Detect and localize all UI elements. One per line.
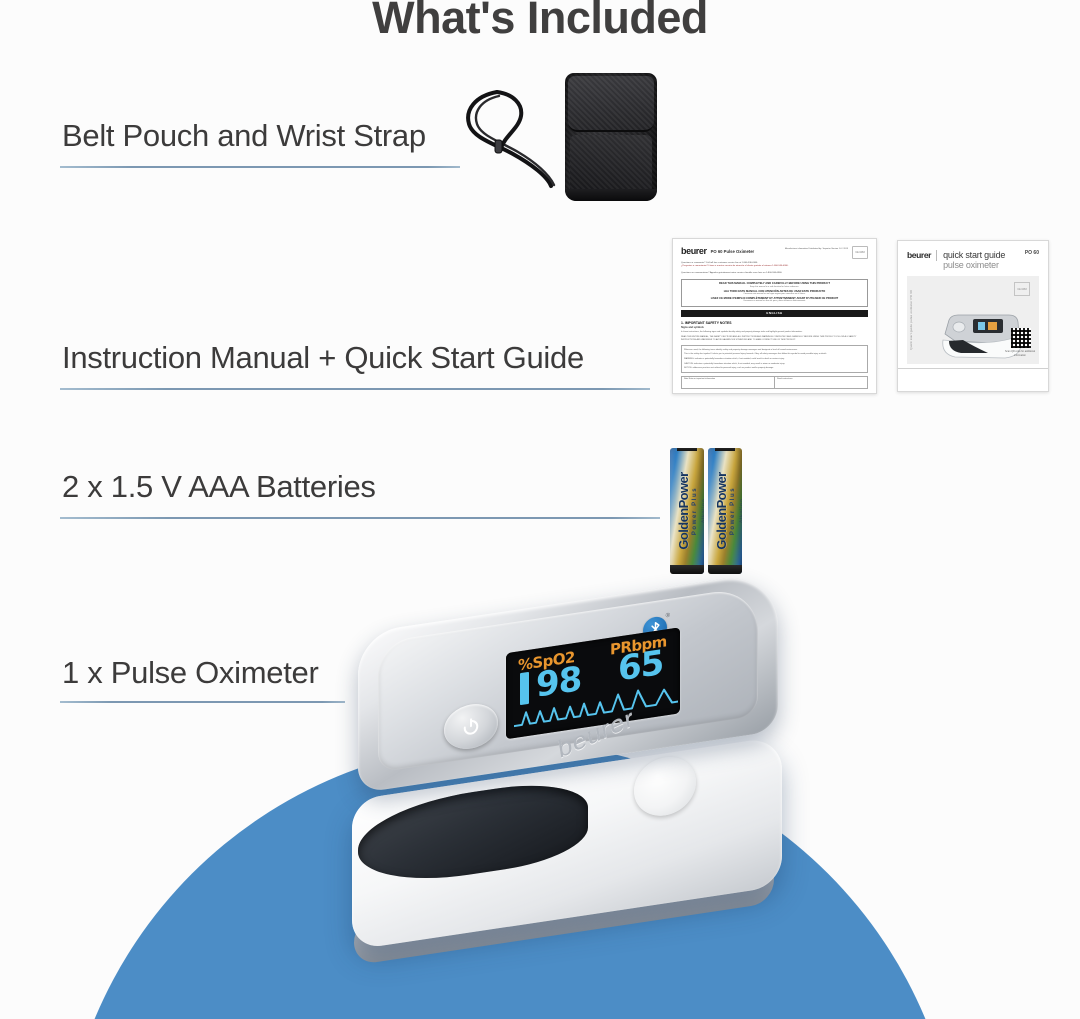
wrist-strap-icon (455, 86, 567, 194)
qsg-title-line1: quick start guide (943, 250, 1005, 260)
manual-header: beurer PO 60 Pulse Oximeter Manufacturer… (681, 246, 868, 259)
manual-model: PO 60 Pulse Oximeter (711, 249, 755, 254)
oximeter-finger-cavity (358, 775, 588, 891)
manual-warn-head: Wherever used, the following terms ident… (684, 349, 865, 352)
manual-section-sub: Signs and symbols (681, 326, 868, 329)
manual-warn-2: WARNING: indicates a potentially hazardo… (684, 358, 865, 361)
qsg-title-block: quick start guide pulse oximeter (943, 250, 1005, 270)
oximeter-hinge-button[interactable] (634, 753, 696, 820)
battery-sub-2: Power Plus (730, 451, 736, 571)
manual-body-1: In these instructions, the following sig… (681, 331, 868, 334)
qsg-brand: beurer (907, 250, 937, 261)
qsg-qr-caption: Scan QR code for additional information (1003, 350, 1037, 357)
power-button[interactable] (444, 700, 498, 752)
divider-rule-3 (60, 517, 660, 519)
item-label-batteries: 2 x 1.5 V AAA Batteries (62, 469, 376, 505)
item-label-pulse-oximeter: 1 x Pulse Oximeter (62, 655, 318, 691)
pr-value: 65 (618, 646, 663, 687)
battery-chemistry-2: Alkaline (740, 498, 742, 523)
qr-code-icon (1011, 328, 1031, 348)
battery-icon-1: GoldenPower Power Plus AAA Alkaline (670, 448, 704, 574)
manual-footer-table: Note Note on important information Read … (681, 376, 868, 389)
qsg-product-photo: Quick start guide pulse oximeter PO 60 C… (907, 276, 1039, 364)
battery-label-1: GoldenPower Power Plus (676, 451, 698, 571)
battery-icon-2: GoldenPower Power Plus AAA Alkaline (708, 448, 742, 574)
pouch-body (570, 135, 652, 193)
manual-brand: beurer (681, 246, 707, 256)
aaa-batteries-image: GoldenPower Power Plus AAA Alkaline Gold… (670, 448, 748, 574)
qsg-model: PO 60 (1025, 250, 1039, 256)
bluetooth-trademark: ® (666, 613, 670, 620)
manual-footer-right: Read instructions (775, 377, 867, 388)
divider-rule-4 (60, 701, 345, 703)
manual-body-2: READ THIS ENTIRE MANUAL, THE SAFETY SECT… (681, 336, 868, 342)
pulse-oximeter-image: ® %SpO2 PRbpm 98 65 beurer (330, 596, 800, 996)
power-icon (461, 715, 481, 738)
qsg-footer-band (898, 368, 1048, 402)
divider-rule-1 (60, 166, 460, 168)
manual-section-title: 1. IMPORTANT SAFETY NOTES (681, 321, 868, 325)
manual-callout-box: READ THIS MANUAL COMPLETELY AND CAREFULL… (681, 279, 868, 307)
callout-es-sub: Conserve este manual en un lugar seguro … (685, 293, 864, 295)
callout-en-sub: Keep this manual in a safe location for … (685, 286, 864, 288)
quick-start-guide-image: beurer quick start guide pulse oximeter … (897, 240, 1049, 392)
qsg-title-line2: pulse oximeter (943, 260, 1005, 270)
battery-sub: Power Plus (692, 451, 698, 571)
manual-meta: Manufacturer information Distributed by … (754, 248, 848, 251)
pouch-bottom-edge (565, 189, 657, 201)
manual-contact-fr: Questions ou commentaires? Appelez gratu… (681, 272, 868, 275)
manual-footer-left: Note Note on important information (682, 377, 775, 388)
belt-pouch-and-wrist-strap-image (455, 68, 675, 203)
battery-chemistry-1: Alkaline (702, 498, 704, 523)
battery-negative-terminal-2 (708, 565, 742, 574)
qsg-side-text: Quick start guide pulse oximeter PO 60 (909, 290, 913, 350)
ce-mark-icon: CE 0483 (852, 246, 868, 259)
manual-warn-1: This is the safety alert symbol. It aler… (684, 353, 865, 356)
manual-language-band: ENGLISH (681, 310, 868, 317)
battery-negative-terminal (670, 565, 704, 574)
qsg-ce-mark-icon: CE 0483 (1014, 282, 1030, 296)
divider-rule-2 (60, 388, 650, 390)
whats-included-infographic: What's Included Belt Pouch and Wrist Str… (0, 0, 1080, 1019)
manual-contact-es: ¿Preguntas o comentarios? Llame a nuestr… (681, 265, 868, 268)
battery-label-2: GoldenPower Power Plus (714, 451, 736, 571)
item-label-belt-pouch: Belt Pouch and Wrist Strap (62, 118, 426, 154)
manual-warn-3: CAUTION: indicates a potentially hazardo… (684, 363, 865, 366)
page-title: What's Included (0, 0, 1080, 44)
battery-brand-2: GoldenPower (714, 451, 729, 571)
belt-pouch-icon (565, 73, 657, 201)
instruction-manual-image: beurer PO 60 Pulse Oximeter Manufacturer… (672, 238, 877, 394)
manual-warning-box: Wherever used, the following terms ident… (681, 345, 868, 373)
pouch-flap (568, 76, 654, 132)
qsg-header: beurer quick start guide pulse oximeter … (898, 241, 1048, 274)
item-label-manual: Instruction Manual + Quick Start Guide (62, 340, 584, 376)
callout-fr-sub: Conservez ce manuel en lieu sûr pour y f… (685, 300, 864, 302)
signal-bar-indicator (520, 672, 529, 705)
battery-brand: GoldenPower (676, 451, 691, 571)
manual-warn-4: NOTICE: addresses practices not related … (684, 367, 865, 370)
